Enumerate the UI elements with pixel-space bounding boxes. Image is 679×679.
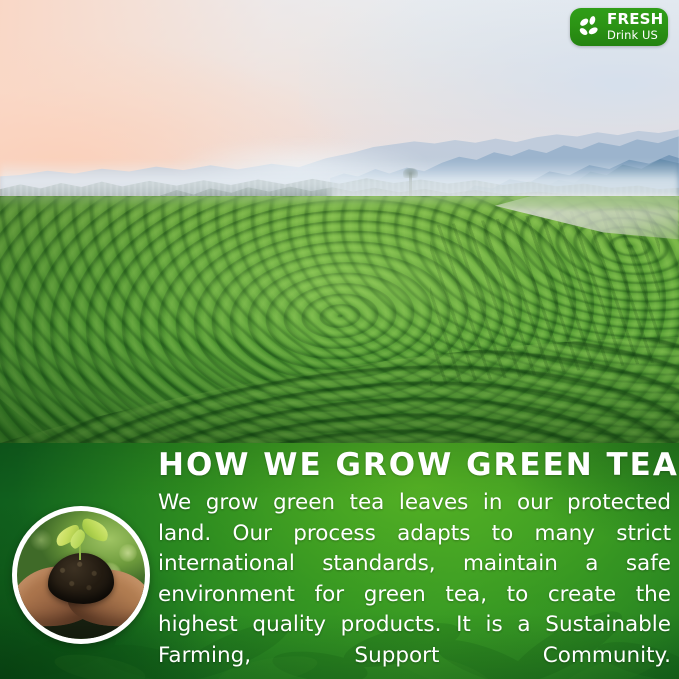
soil-texture [48, 553, 115, 604]
logo-line-drink-us: Drink US [607, 30, 663, 42]
tea-field [0, 196, 679, 444]
panel-text-column: HOW WE GROW GREEN TEA We grow green tea … [158, 446, 671, 679]
leaf-cluster-icon [575, 12, 605, 42]
bokeh-light-1 [30, 529, 52, 551]
soil-mound [48, 553, 115, 604]
body-paragraph: We grow green tea leaves in our protecte… [158, 488, 671, 679]
hands-holding-seedling-photo [12, 506, 150, 644]
bokeh-light-3 [119, 544, 137, 562]
fresh-drink-us-logo[interactable]: FRESH Drink US [570, 8, 668, 46]
field-shadow-bottom [0, 334, 679, 444]
tea-plantation-photo: FRESH Drink US [0, 0, 679, 444]
seedling-image-inner [17, 511, 145, 639]
page-title: HOW WE GROW GREEN TEA [158, 446, 671, 484]
logo-line-fresh: FRESH [607, 12, 663, 27]
logo-wordmark: FRESH Drink US [607, 12, 663, 42]
product-infographic: FRESH Drink US [0, 0, 679, 679]
